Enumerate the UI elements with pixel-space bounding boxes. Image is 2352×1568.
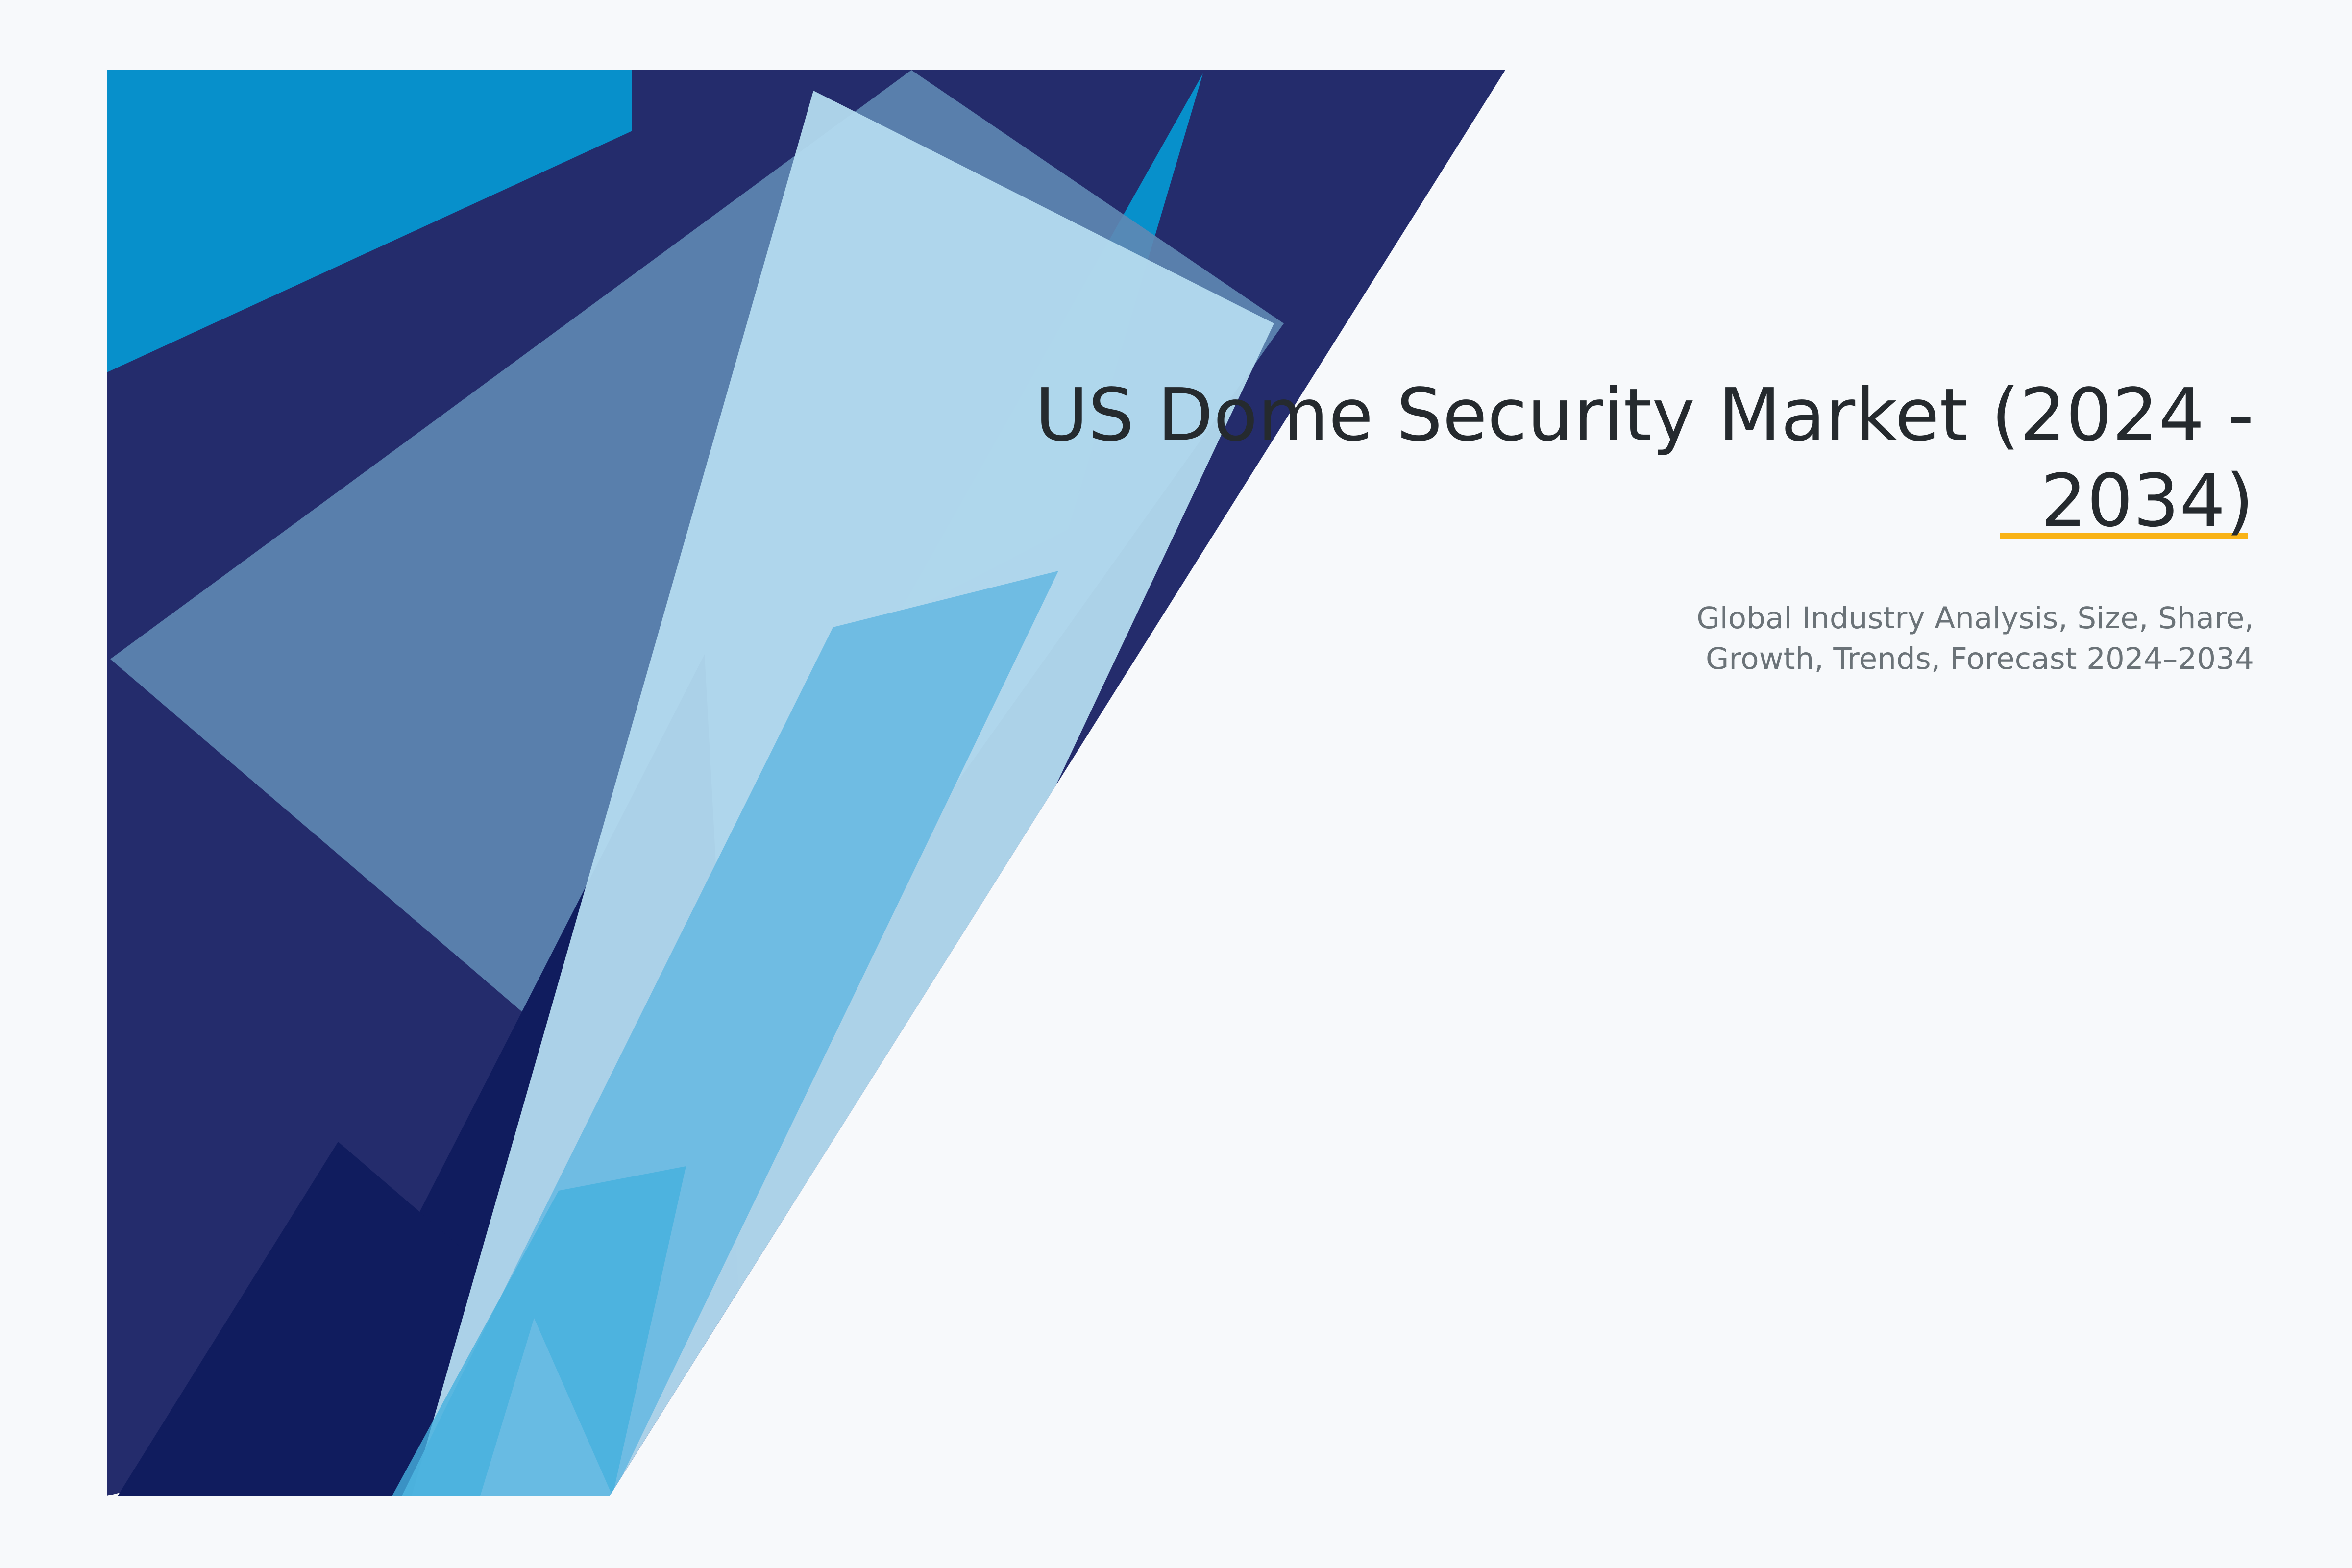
abstract-geometric-artwork <box>0 0 2352 1568</box>
title-wrapper: US Dome Security Market (2024 - 2034) <box>1000 372 2254 543</box>
page-title: US Dome Security Market (2024 - 2034) <box>1000 372 2254 543</box>
cover-text-block: US Dome Security Market (2024 - 2034) Gl… <box>1000 372 2254 680</box>
page-subtitle: Global Industry Analysis, Size, Share, G… <box>1000 543 2254 680</box>
cover-page: US Dome Security Market (2024 - 2034) Gl… <box>0 0 2352 1568</box>
